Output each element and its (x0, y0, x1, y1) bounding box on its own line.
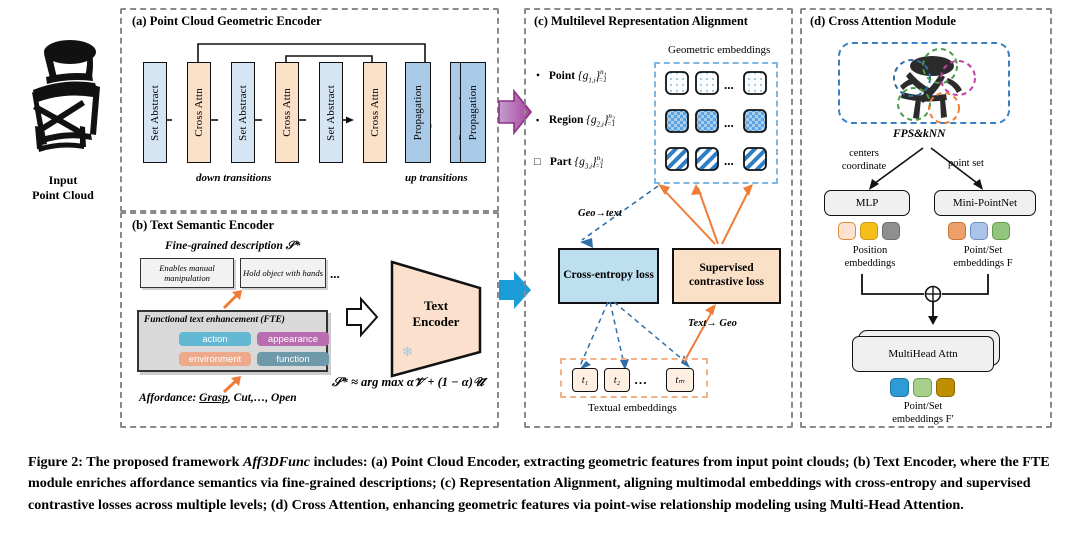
text-to-geo-label: Text→ Geo (688, 318, 737, 329)
position-label-line2: embeddings (832, 257, 908, 270)
input-point-cloud-group: Input Point Cloud (8, 30, 118, 205)
token-label: t₁ (582, 375, 588, 386)
input-label-line1: Input (8, 173, 118, 188)
geo-to-text-label: Geo→text (578, 208, 622, 219)
pointset-embeddings-label: Point/Set embeddings F (938, 244, 1028, 270)
text-encoder-line2: Encoder (398, 314, 474, 330)
token-tm[interactable]: tₘ (666, 368, 694, 392)
block-label: Propagation (467, 85, 479, 140)
panel-ab-divider (495, 180, 525, 230)
level-set: {g3,i}n3i=1 (574, 156, 603, 168)
description-text: Hold object with hands (243, 268, 323, 278)
output-label-line1: Point/Set (878, 400, 968, 413)
chip-label: appearance (268, 334, 318, 345)
block-set-abstract-3[interactable]: Set Abstract (319, 62, 343, 163)
panel-d-title: (d) Cross Attention Module (810, 14, 956, 29)
input-label-line2: Point Cloud (8, 188, 118, 203)
cross-entropy-loss-label: Cross-entropy loss (563, 269, 654, 283)
mini-pointnet-box[interactable]: Mini-PointNet (934, 190, 1036, 216)
framework-name: Aff3DFunc (243, 454, 310, 470)
block-set-abstract-1[interactable]: Set Abstract (143, 62, 167, 163)
multihead-attn-label: MultiHead Attn (888, 348, 957, 360)
affordance-line: Affordance: Grasp, Cut,…, Open (139, 392, 297, 404)
mlp-box[interactable]: MLP (824, 190, 910, 216)
up-transitions-label: up transitions (405, 172, 468, 184)
fine-grained-description-label: Fine-grained description 𝒮* (165, 240, 300, 253)
position-embedding-1 (838, 222, 856, 240)
level-name: Region (549, 114, 584, 126)
affordance-to-fte-arrow (222, 374, 248, 394)
token-label: tₘ (675, 375, 684, 386)
pointset-embedding-3 (992, 222, 1010, 240)
fte-chip-action[interactable]: action (179, 332, 251, 346)
output-embeddings-label: Point/Set embeddings F′ (878, 400, 968, 426)
bullet-square-filled-icon: ▪ (536, 115, 546, 125)
fte-formula: 𝒮* ≈ arg max α𝒱̄ + (1 − α)𝒰̄ (332, 375, 484, 390)
mini-pointnet-label: Mini-PointNet (953, 197, 1017, 209)
output-embedding-2 (913, 378, 932, 397)
level-name: Point (549, 70, 575, 82)
fte-chip-environment[interactable]: environment (179, 352, 251, 366)
fte-module-box[interactable]: Functional text enhancement (FTE) action… (137, 310, 328, 372)
position-embedding-3 (882, 222, 900, 240)
centers-coordinate-label: centers coordinate (832, 148, 896, 173)
block-label: Propagation (412, 85, 424, 140)
sum-junction-arrows (828, 272, 1028, 326)
level-part: □ Part {g3,i}n3i=1 (534, 154, 603, 170)
block-label: Cross Attn (193, 88, 205, 137)
level-region: ▪ Region {g2,i}n2i=1 (536, 112, 615, 128)
block-label: Set Abstract (149, 85, 161, 141)
chip-label: action (202, 334, 227, 345)
position-embeddings-label: Position embeddings (832, 244, 908, 270)
pointset-embedding-2 (970, 222, 988, 240)
description-box-1[interactable]: Enables manual manipulation (140, 258, 234, 288)
position-embedding-2 (860, 222, 878, 240)
pointset-label-line2: embeddings F (938, 257, 1028, 270)
block-label: Cross Attn (281, 88, 293, 137)
block-label: Set Abstract (237, 85, 249, 141)
svg-text:...: ... (724, 115, 734, 130)
snowflake-icon: ❄ (402, 344, 413, 360)
down-transitions-label: down transitions (196, 172, 272, 184)
svg-text:...: ... (724, 77, 734, 92)
affordance-first: Grasp (199, 392, 228, 404)
pointset-embedding-1 (948, 222, 966, 240)
block-arrow-to-text-encoder (345, 295, 379, 339)
fine-grained-text: Fine-grained description 𝒮* (165, 240, 300, 252)
descriptions-ellipsis: ... (330, 266, 340, 282)
geometric-embeddings-label: Geometric embeddings (668, 44, 770, 56)
output-label-line2: embeddings F′ (878, 413, 968, 426)
level-name: Part (550, 156, 572, 168)
pointset-label-line1: Point/Set (938, 244, 1028, 257)
caption-body: The proposed framework Aff3DFunc include… (28, 454, 1050, 513)
geometric-embeddings-grid: ... ... ... (656, 64, 776, 182)
token-t1[interactable]: t₁ (572, 368, 598, 392)
cross-attention-point-cloud-box (838, 42, 1010, 124)
level-point: • Point {g1,i}n1i=1 (536, 68, 607, 84)
mlp-label: MLP (856, 197, 879, 209)
block-set-abstract-2[interactable]: Set Abstract (231, 62, 255, 163)
block-cross-attn-1[interactable]: Cross Attn (187, 62, 211, 163)
level-set: {g1,i}n1i=1 (578, 70, 607, 82)
block-label: Set Abstract (325, 85, 337, 141)
input-point-cloud-label: Input Point Cloud (8, 173, 118, 203)
bicycle-point-cloud-icon (840, 44, 1008, 122)
multihead-attn-box[interactable]: MultiHead Attn (852, 336, 994, 372)
output-embedding-3 (936, 378, 955, 397)
fte-chip-appearance[interactable]: appearance (257, 332, 329, 346)
centers-line2: coordinate (832, 161, 896, 174)
description-text: Enables manual manipulation (143, 263, 231, 284)
panel-c-title: (c) Multilevel Representation Alignment (534, 14, 748, 29)
chip-label: environment (189, 354, 241, 365)
text-encoder-label: Text Encoder (398, 298, 474, 331)
caption-prefix: Figure 2: (28, 454, 83, 470)
centers-line1: centers (832, 148, 896, 161)
chip-label: function (276, 354, 309, 365)
block-cross-attn-2[interactable]: Cross Attn (275, 62, 299, 163)
block-propagation-3[interactable]: Propagation (460, 62, 486, 163)
token-t2[interactable]: t₂ (604, 368, 630, 392)
block-label: Cross Attn (369, 88, 381, 137)
fte-chip-function[interactable]: function (257, 352, 329, 366)
text-encoder-trapezoid[interactable]: Text Encoder ❄ (388, 258, 484, 380)
svg-text:...: ... (724, 153, 734, 168)
supervised-contrastive-loss-label: Supervised contrastive loss (674, 262, 779, 290)
textual-embeddings-group: t₁ t₂ … tₘ (560, 358, 708, 398)
block-cross-attn-3[interactable]: Cross Attn (363, 62, 387, 163)
fps-knn-label: FPS&kNN (893, 128, 945, 140)
textual-embeddings-label: Textual embeddings (588, 402, 677, 414)
folding-chair-point-cloud-icon (8, 30, 118, 170)
bullet-square-hollow-icon: □ (534, 156, 547, 168)
affordance-label: Affordance: (139, 392, 196, 404)
bullet-dot-icon: • (536, 70, 546, 82)
affordance-rest: , Cut,…, Open (228, 392, 297, 404)
tokens-ellipsis: … (634, 372, 647, 388)
level-set: {g2,i}n2i=1 (586, 114, 615, 126)
position-label-line1: Position (832, 244, 908, 257)
text-encoder-line1: Text (398, 298, 474, 314)
output-embedding-1 (890, 378, 909, 397)
figure-caption: Figure 2: The proposed framework Aff3DFu… (28, 452, 1056, 516)
supervised-contrastive-loss-box[interactable]: Supervised contrastive loss (672, 248, 781, 304)
panel-b-title: (b) Text Semantic Encoder (132, 218, 274, 233)
block-propagation-1[interactable]: Propagation (405, 62, 431, 163)
cross-entropy-loss-box[interactable]: Cross-entropy loss (558, 248, 659, 304)
point-set-branch-label: point set (948, 158, 984, 169)
token-label: t₂ (614, 375, 620, 386)
description-box-2[interactable]: Hold object with hands (240, 258, 326, 288)
geometric-embeddings-group: ... ... ... (654, 62, 778, 184)
fte-to-description-arrow (222, 288, 250, 310)
fte-title: Functional text enhancement (FTE) (144, 315, 285, 325)
